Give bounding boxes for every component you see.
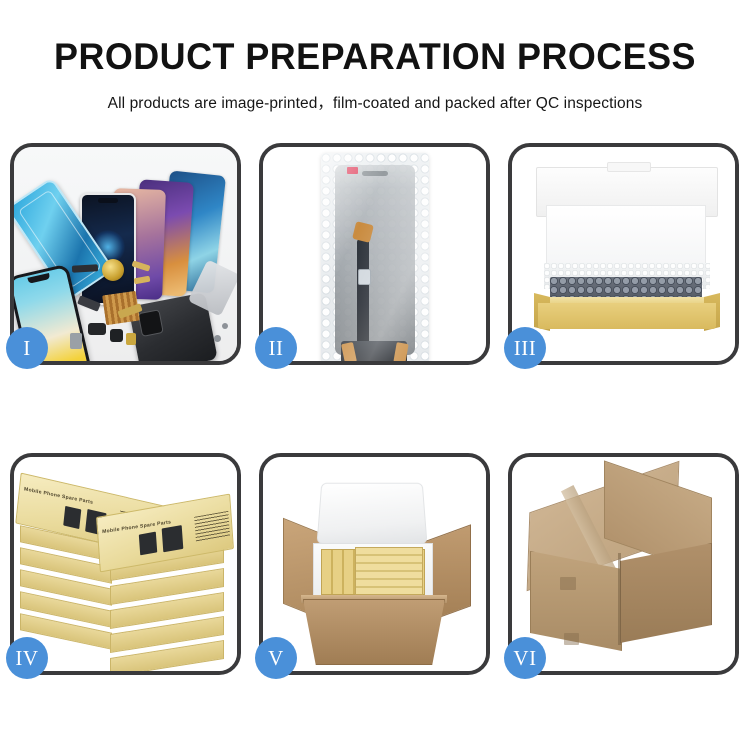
page-subtitle: All products are image-printed，film-coat… (0, 91, 750, 113)
step-badge-2: II (255, 327, 297, 369)
page-title: PRODUCT PREPARATION PROCESS (11, 38, 739, 75)
phone-notch (98, 198, 118, 203)
box-tray-front (538, 303, 716, 329)
step-image-sealed-shipping-carton (512, 457, 735, 671)
step-image-bubble-wrapped-lcd (263, 147, 486, 361)
step-image-open-yellow-box-with-foam (512, 147, 735, 361)
step-badge-4: IV (6, 637, 48, 679)
spare-part-strip (72, 264, 98, 272)
header: PRODUCT PREPARATION PROCESS All products… (0, 0, 750, 113)
steps-grid: I II (10, 143, 740, 709)
box-lid-screen-art (139, 532, 157, 556)
carton-handle-tab (564, 633, 579, 645)
foam-box-lid (317, 483, 428, 544)
box-lid-screen-art (63, 506, 81, 529)
lcd-screen (335, 165, 415, 355)
carton-handle-tab (560, 577, 576, 590)
box-lid-screen-art (162, 525, 184, 552)
carton-edge-seam (618, 553, 621, 645)
box-lid-label: Mobile Phone Spare Parts (102, 519, 171, 535)
step-panel-1: I (10, 143, 241, 365)
carton-right-face (620, 543, 712, 643)
step-image-stacked-spare-parts-boxes: Mobile Phone Spare Parts Mobile Phone Sp… (14, 457, 237, 671)
step-badge-5: V (255, 637, 297, 679)
step-panel-5: V (259, 453, 490, 675)
spare-part-strip (110, 329, 123, 342)
product-preparation-infographic: PRODUCT PREPARATION PROCESS All products… (0, 0, 750, 750)
screw-part (222, 323, 228, 329)
screw-part (214, 335, 221, 342)
step-panel-6: VI (508, 453, 739, 675)
step-badge-6: VI (504, 637, 546, 679)
flex-cable (357, 239, 369, 347)
step-panel-4: Mobile Phone Spare Parts Mobile Phone Sp… (10, 453, 241, 675)
carton-body (303, 599, 445, 665)
box-lid-label: Mobile Phone Spare Parts (24, 486, 94, 505)
step-badge-1: I (6, 327, 48, 369)
vibration-motor-part (102, 259, 124, 281)
foam-sheet-back (546, 205, 706, 271)
spare-part-strip (88, 323, 106, 335)
step-image-carton-with-foam-box (263, 457, 486, 671)
spare-part-strip (126, 333, 136, 345)
qc-sticker (347, 167, 358, 174)
spare-part-strip (70, 333, 82, 349)
phone-notch (27, 273, 50, 284)
bubble-wrap-pouch (321, 153, 429, 361)
step-panel-3: III (508, 143, 739, 365)
box-stack: Mobile Phone Spare Parts Mobile Phone Sp… (14, 457, 237, 671)
box-lid-spec-text (194, 511, 230, 543)
step-panel-2: II (259, 143, 490, 365)
driver-ic (358, 269, 371, 285)
step-badge-3: III (504, 327, 546, 369)
step-image-phone-screens-and-spare-parts (14, 147, 237, 361)
yellow-boxes-row (355, 547, 423, 595)
